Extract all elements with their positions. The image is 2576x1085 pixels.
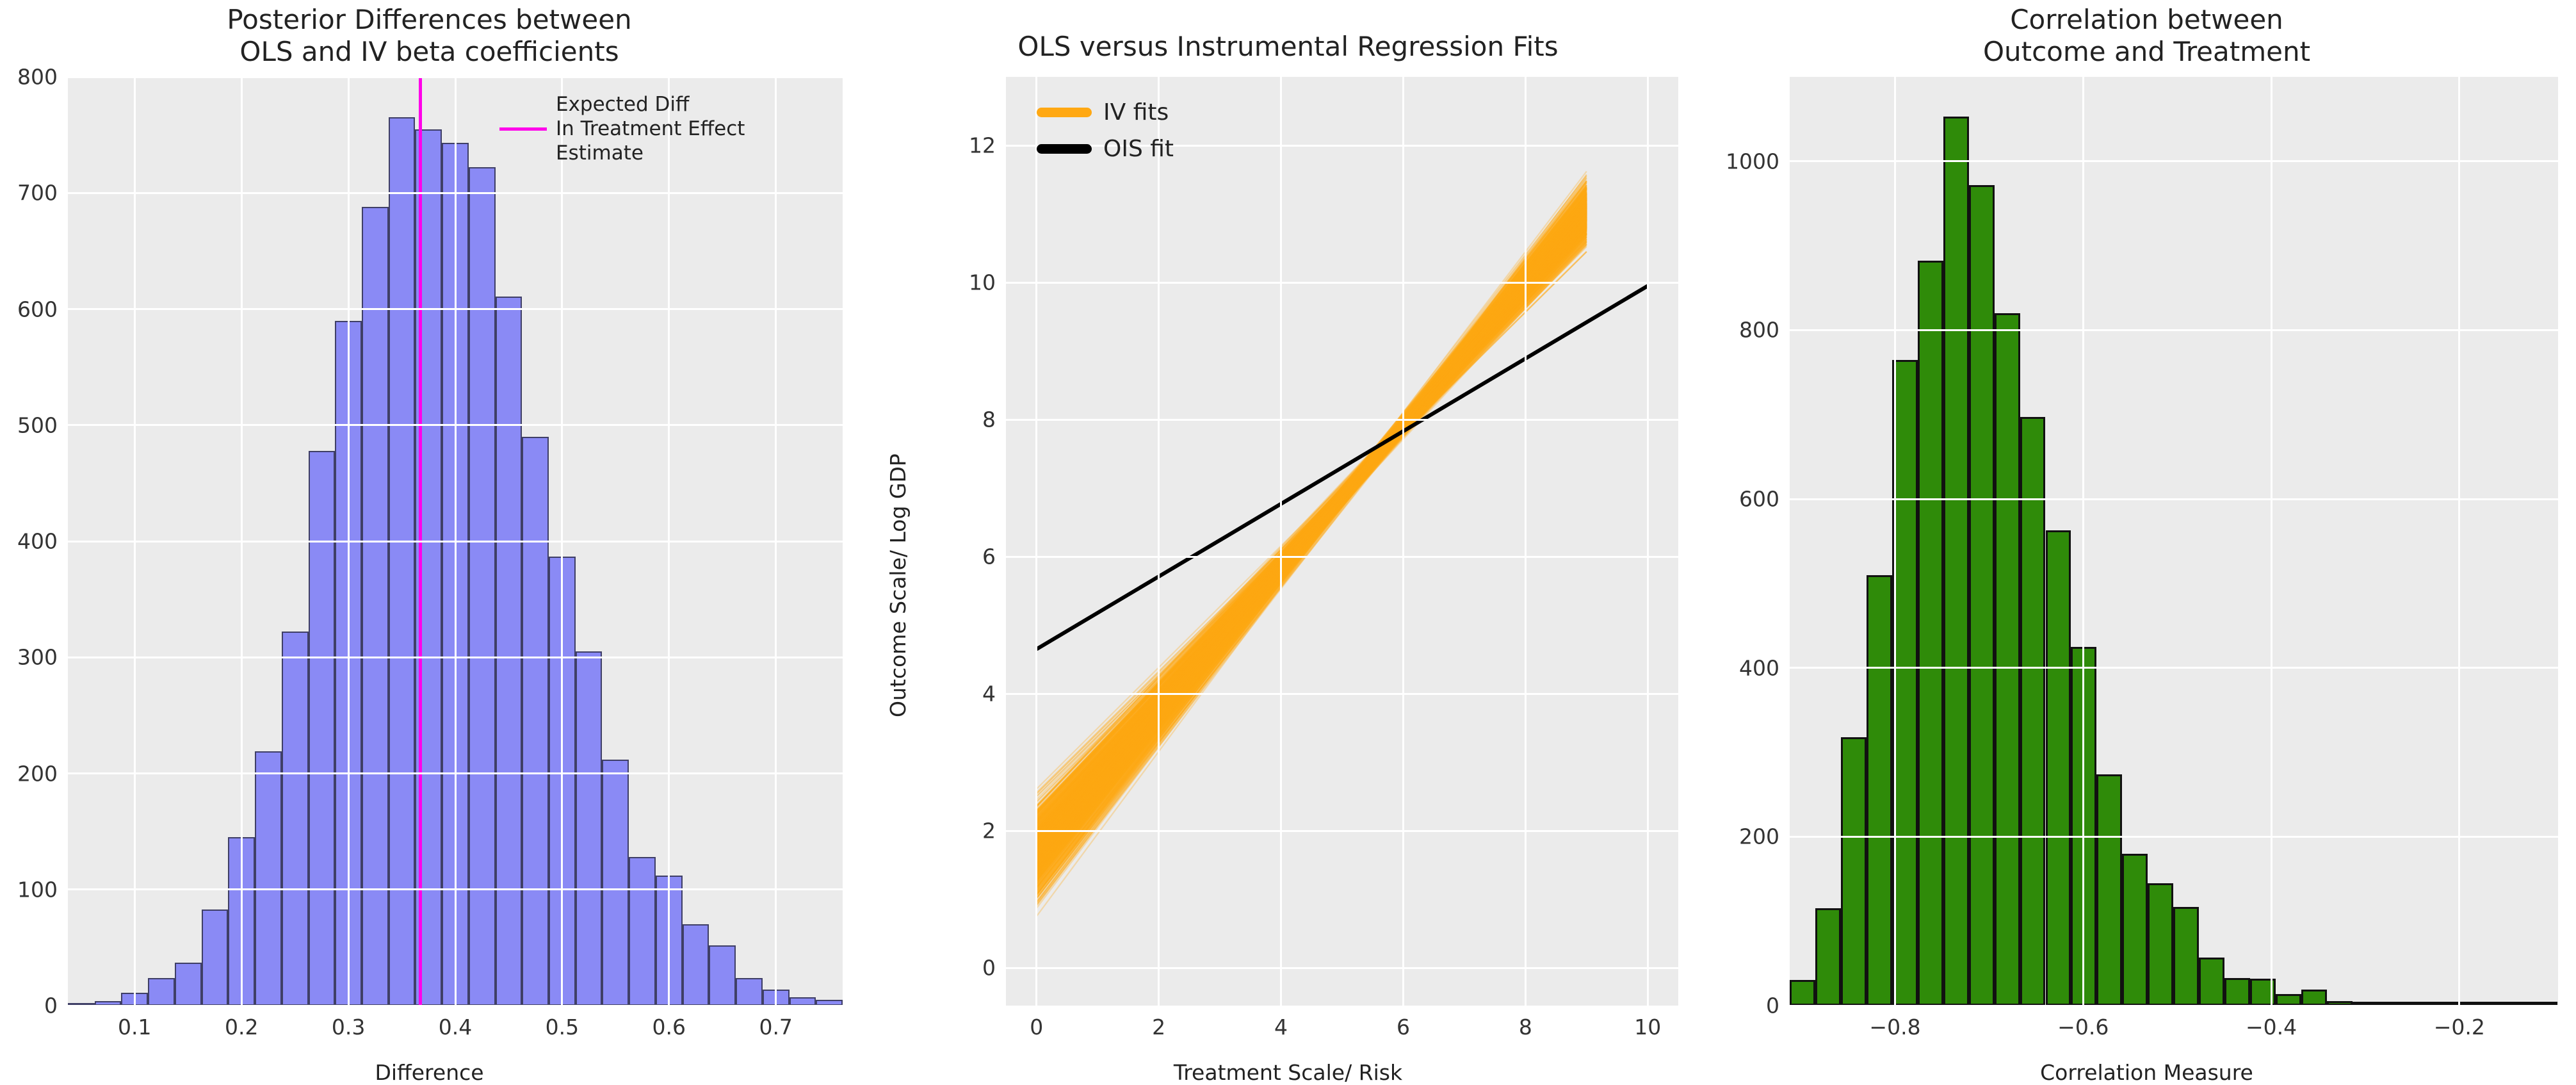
histogram-bar [2020,417,2046,1006]
histogram-bar [1867,575,1892,1006]
legend-iv-label: IV fits [1103,99,1169,126]
grid-line-horizontal [1006,693,1678,695]
grid-line-horizontal [1006,830,1678,832]
grid-line-horizontal [1790,160,2558,162]
panel-ols-versus-iv: OLS versus Instrumental Regression Fits … [859,0,1717,1040]
x-tick-label: 0.2 [225,1015,258,1040]
grid-line-vertical [1280,77,1282,1006]
x-tick-label: 0.4 [439,1015,472,1040]
y-tick-label: 6 [859,544,996,569]
grid-line-horizontal [1790,1005,2558,1006]
x-tick-label: 6 [1397,1015,1410,1040]
histogram-bar [2148,883,2173,1006]
histogram-bar [1918,261,1943,1006]
histogram-bar [148,978,175,1006]
histogram-bar [602,760,629,1006]
grid-line-vertical [1525,77,1527,1006]
panel-posterior-differences: Posterior Differences between OLS and IV… [0,0,859,1040]
grid-line-horizontal [1006,419,1678,421]
histogram-bar [709,945,736,1006]
y-tick-label: 400 [0,529,58,554]
y-tick-label: 600 [1717,487,1779,512]
y-tick-label: 0 [1717,993,1779,1018]
grid-line-horizontal [1006,556,1678,558]
legend-ols-label: OIS fit [1103,136,1174,162]
x-tick-label: 4 [1274,1015,1288,1040]
panel-3-title-line2: Outcome and Treatment [1717,36,2576,68]
panel-1-plot-area [68,77,843,1006]
legend-ols-line-icon [1037,144,1092,154]
grid-line-horizontal [1790,498,2558,500]
histogram-bar [2096,774,2122,1006]
panel-3-plot-area [1790,77,2558,1006]
histogram-bar [282,632,309,1006]
regression-fit-lines [1006,77,1678,1006]
y-tick-label: 300 [0,645,58,670]
panel-1-title-line2: OLS and IV beta coefficients [0,36,859,68]
x-tick-label: 0.7 [759,1015,792,1040]
histogram-bar [496,297,522,1006]
x-tick-label: 10 [1634,1015,1661,1040]
panel-3-title: Correlation between Outcome and Treatmen… [1717,4,2576,67]
y-tick-label: 600 [0,297,58,322]
y-tick-label: 0 [859,956,996,981]
grid-line-vertical [1402,77,1404,1006]
x-tick-label: −0.6 [2057,1015,2109,1040]
histogram-bar [2224,978,2250,1006]
y-tick-label: 200 [0,761,58,786]
histogram-bar [522,437,549,1006]
x-tick-label: 0.5 [546,1015,579,1040]
grid-line-vertical [1894,77,1896,1006]
x-tick-label: 0.3 [332,1015,365,1040]
legend-label-line-3: Estimate [556,142,745,166]
panel-2-y-axis-label: Outcome Scale/ Log GDP [886,453,911,717]
grid-line-vertical [2458,77,2460,1006]
grid-line-vertical [561,77,563,1006]
y-tick-label: 2 [859,819,996,844]
histogram-bar [1995,313,2020,1006]
histogram-bar [175,963,202,1006]
x-tick-label: 0.6 [652,1015,686,1040]
y-tick-label: 500 [0,412,58,437]
grid-line-vertical [348,77,350,1006]
legend-label-line-2: In Treatment Effect [556,117,745,142]
grid-line-horizontal [1790,329,2558,331]
histogram-bar [2046,530,2071,1006]
panel-2-plot-area [1006,77,1678,1006]
y-tick-label: 400 [1717,655,1779,680]
grid-line-vertical [1158,77,1160,1006]
ols-fit-line [1037,286,1648,649]
grid-line-vertical [134,77,136,1006]
panel-3-x-axis-label: Correlation Measure [1717,1060,2576,1085]
x-tick-label: −0.4 [2246,1015,2297,1040]
panel-correlation: Correlation between Outcome and Treatmen… [1717,0,2576,1040]
grid-line-horizontal [1790,836,2558,838]
x-tick-label: −0.2 [2434,1015,2485,1040]
legend-label-line-1: Expected Diff [556,93,745,117]
panel-1-x-axis-label: Difference [0,1060,859,1085]
histogram-bar [1790,980,1815,1006]
legend-magenta-line-icon [499,127,547,131]
panel-2-x-axis-label: Treatment Scale/ Risk [859,1060,1717,1085]
grid-line-horizontal [1006,967,1678,969]
legend-label-group: Expected Diff In Treatment Effect Estima… [556,93,745,165]
y-tick-label: 200 [1717,824,1779,849]
grid-line-vertical [668,77,670,1006]
histogram-bar [2301,990,2327,1006]
histogram-bar [202,910,229,1006]
y-tick-label: 0 [0,993,58,1018]
x-tick-label: 0 [1030,1015,1043,1040]
histogram-bar [1969,185,1995,1006]
legend-item-iv-fits[interactable]: IV fits [1037,99,1174,126]
histogram-bar [389,117,416,1006]
histogram-bar [362,207,389,1006]
histogram-bar [736,978,763,1006]
panel-1-title-line1: Posterior Differences between [227,4,631,35]
grid-line-vertical [455,77,457,1006]
histogram-bar [629,857,656,1006]
panel-2-legend[interactable]: IV fits OIS fit [1037,99,1174,172]
legend-iv-line-icon [1037,108,1092,117]
y-tick-label: 1000 [1717,149,1779,174]
legend-item-ols-fit[interactable]: OIS fit [1037,136,1174,162]
grid-line-horizontal [1006,282,1678,284]
grid-line-horizontal [1790,667,2558,669]
y-tick-label: 8 [859,407,996,432]
panel-2-title: OLS versus Instrumental Regression Fits [859,31,1717,63]
histogram-bar [2276,994,2301,1006]
histogram-bar [1815,908,1841,1006]
histogram-bar [469,167,496,1006]
grid-line-vertical [775,77,777,1006]
grid-line-vertical [1647,77,1649,1006]
y-tick-label: 4 [859,681,996,706]
y-tick-label: 800 [0,65,58,90]
panel-1-legend[interactable]: Expected Diff In Treatment Effect Estima… [499,93,745,165]
y-tick-label: 12 [859,133,996,158]
panel-1-title: Posterior Differences between OLS and IV… [0,4,859,67]
grid-line-vertical [241,77,243,1006]
histogram-bar [683,924,709,1006]
histogram-bars-correlation [1790,77,2558,1006]
panel-3-title-line1: Correlation between [2010,4,2283,35]
histogram-bar [2173,907,2199,1006]
y-tick-label: 10 [859,270,996,295]
histogram-bar [1841,737,1867,1006]
panel-2-title-line1: OLS versus Instrumental Regression Fits [1017,31,1558,62]
x-tick-label: 8 [1519,1015,1532,1040]
x-tick-label: 2 [1152,1015,1165,1040]
y-tick-label: 800 [1717,318,1779,343]
histogram-bar [1943,117,1969,1006]
y-tick-label: 700 [0,181,58,206]
histogram-bar [576,651,603,1006]
histogram-bar [2199,958,2224,1006]
three-panel-figure: Posterior Differences between OLS and IV… [0,0,2576,1040]
x-tick-label: −0.8 [1869,1015,1920,1040]
x-tick-label: 0.1 [118,1015,151,1040]
grid-line-vertical [1035,77,1037,1006]
histogram-bar [2122,854,2148,1006]
histogram-bar [309,451,336,1006]
grid-line-vertical [2082,77,2084,1006]
histogram-bar [255,751,282,1006]
grid-line-vertical [2271,77,2272,1006]
y-tick-label: 100 [0,877,58,902]
